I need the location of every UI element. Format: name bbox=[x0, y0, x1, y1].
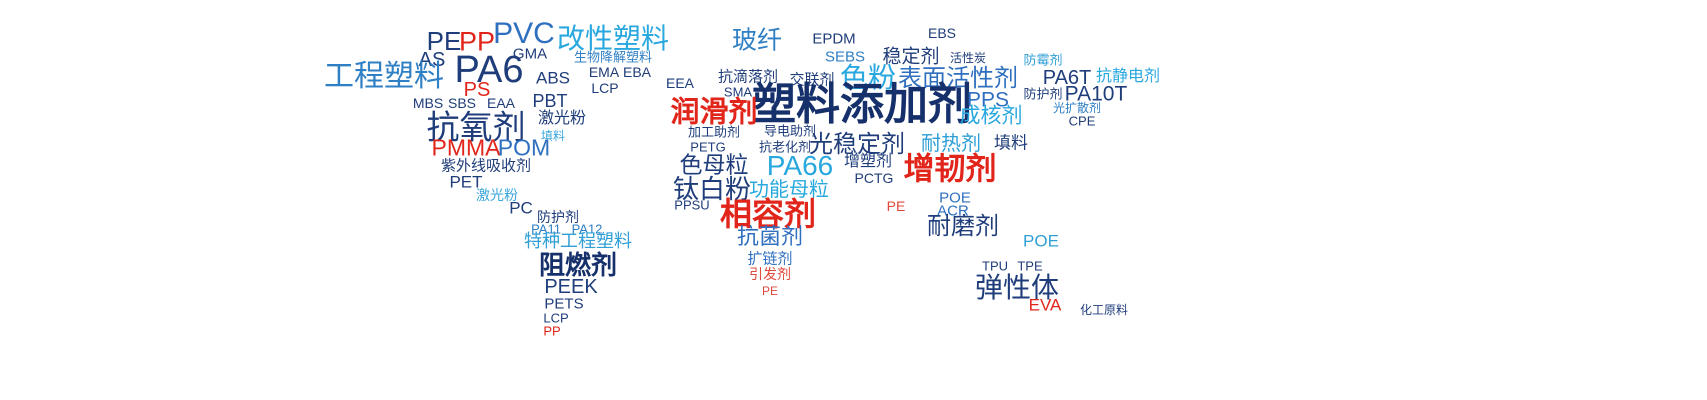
cloud-word[interactable]: PE bbox=[762, 285, 778, 297]
cloud-word[interactable]: 特种工程塑料 bbox=[524, 233, 632, 251]
cloud-word[interactable]: 填料 bbox=[994, 136, 1028, 153]
cloud-word[interactable]: PA66 bbox=[767, 152, 833, 180]
cloud-word[interactable]: PP bbox=[543, 325, 560, 338]
cloud-word[interactable]: EMA bbox=[589, 65, 619, 79]
cloud-word[interactable]: PPSU bbox=[674, 199, 709, 212]
cloud-word[interactable]: 增韧剂 bbox=[904, 155, 997, 186]
cloud-word[interactable]: 增塑剂 bbox=[844, 153, 892, 169]
cloud-word[interactable]: 防霉剂 bbox=[1023, 55, 1062, 68]
cloud-word[interactable]: 生物降解塑料 bbox=[574, 52, 652, 65]
cloud-word[interactable]: CPE bbox=[1069, 115, 1096, 128]
cloud-word[interactable]: 成核剂 bbox=[960, 106, 1023, 127]
word-cloud-canvas: PEPPPVCGMA改性塑料生物降解塑料ASPA6ABSEMAEBAEEALCP… bbox=[0, 0, 1707, 400]
cloud-word[interactable]: 塑料添加剂 bbox=[752, 83, 972, 127]
cloud-word[interactable]: 防护剂 bbox=[1023, 89, 1062, 102]
cloud-word[interactable]: EEA bbox=[666, 76, 694, 90]
cloud-word[interactable]: 紫外线吸收剂 bbox=[441, 159, 531, 174]
cloud-word[interactable]: POE bbox=[1023, 233, 1059, 250]
cloud-word[interactable]: EBA bbox=[623, 65, 651, 79]
cloud-word[interactable]: EVA bbox=[1029, 297, 1062, 314]
cloud-word[interactable]: 玻纤 bbox=[732, 28, 782, 53]
cloud-word[interactable]: 引发剂 bbox=[749, 268, 791, 282]
cloud-word[interactable]: PE bbox=[887, 199, 906, 213]
cloud-word[interactable]: PCTG bbox=[855, 171, 894, 185]
cloud-word[interactable]: ABS bbox=[536, 70, 570, 87]
cloud-word[interactable]: 扩链剂 bbox=[747, 252, 792, 267]
cloud-word[interactable]: 激光粉 bbox=[538, 110, 586, 126]
cloud-word[interactable]: 化工原料 bbox=[1080, 304, 1128, 316]
cloud-word[interactable]: 抗菌剂 bbox=[737, 227, 803, 249]
cloud-word[interactable]: PVC bbox=[493, 19, 555, 49]
cloud-word[interactable]: EBS bbox=[928, 26, 956, 40]
cloud-word[interactable]: 光扩散剂 bbox=[1053, 102, 1101, 114]
cloud-word[interactable]: 工程塑料 bbox=[324, 62, 444, 92]
cloud-word[interactable]: 加工助剂 bbox=[688, 127, 740, 140]
cloud-word[interactable]: 活性炭 bbox=[950, 52, 986, 64]
cloud-word[interactable]: 耐磨剂 bbox=[927, 214, 999, 238]
cloud-word[interactable]: 改性塑料 bbox=[557, 25, 669, 53]
cloud-word[interactable]: PETS bbox=[544, 297, 583, 312]
cloud-word[interactable]: PEEK bbox=[544, 277, 597, 297]
cloud-word[interactable]: 润滑剂 bbox=[670, 98, 757, 127]
cloud-word[interactable]: LCP bbox=[591, 81, 618, 95]
cloud-word[interactable]: 耐热剂 bbox=[921, 133, 981, 153]
cloud-word[interactable]: EPDM bbox=[812, 32, 855, 47]
cloud-word[interactable]: PC bbox=[509, 200, 533, 217]
